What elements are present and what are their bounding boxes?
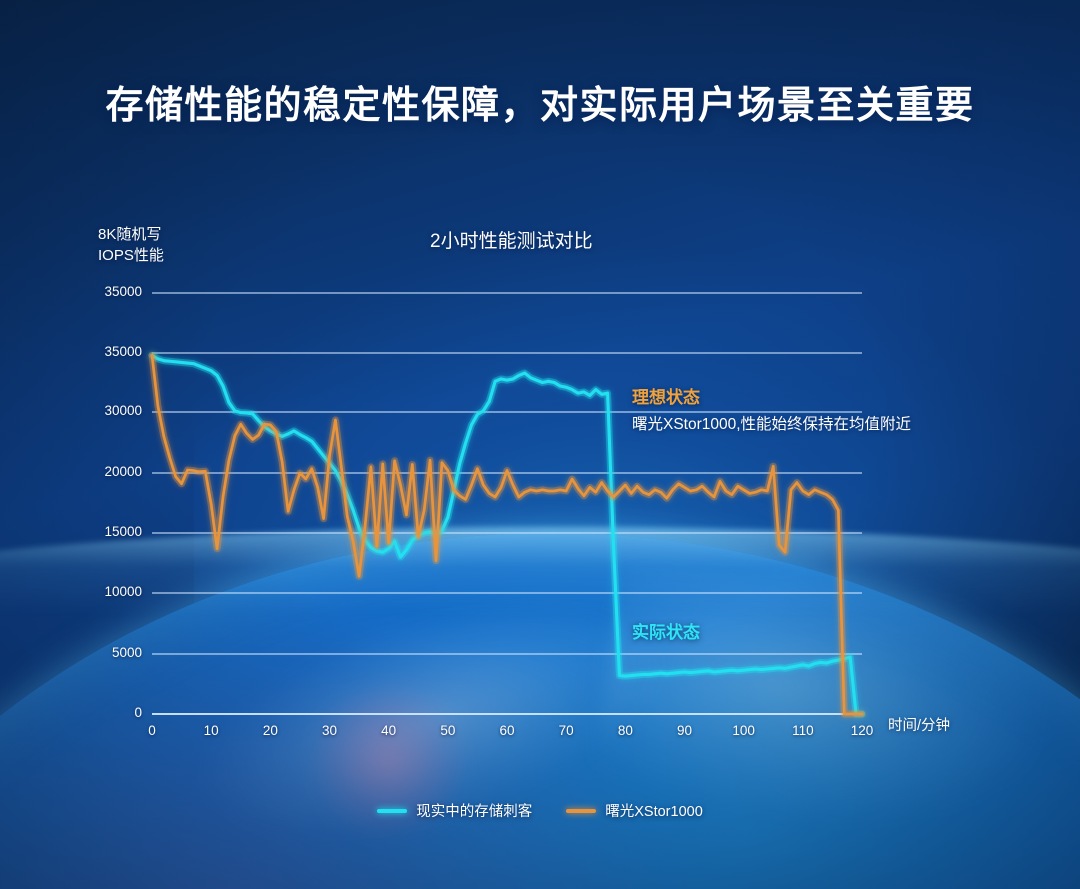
x-axis-label: 时间/分钟 [888,714,950,735]
annotation-real-title: 实际状态 [632,618,700,643]
y-tick-label: 5000 [80,645,142,660]
x-tick-label: 120 [842,723,882,738]
y-tick-label: 0 [80,705,142,720]
legend-item[interactable]: 现实中的存储刺客 [377,800,532,821]
x-tick-label: 40 [369,723,409,738]
legend-item[interactable]: 曙光XStor1000 [566,800,703,821]
chart-canvas [0,0,1080,889]
annotation-ideal-description: 曙光XStor1000,性能始终保持在均值附近 [632,412,911,434]
x-tick-label: 110 [783,723,823,738]
x-tick-label: 70 [546,723,586,738]
legend-label: 现实中的存储刺客 [416,800,532,821]
y-tick-label: 15000 [80,524,142,539]
y-tick-label: 30000 [80,403,142,418]
legend-label: 曙光XStor1000 [605,800,703,821]
series-glow-2 [152,355,862,714]
series-line-1 [152,355,862,714]
legend-color-swatch [566,809,596,813]
performance-chart: 8K随机写 IOPS性能 2小时性能测试对比 时间/分钟 35000350003… [0,0,1080,889]
x-tick-label: 60 [487,723,527,738]
x-tick-label: 90 [665,723,705,738]
y-tick-label: 35000 [80,344,142,359]
x-tick-label: 30 [310,723,350,738]
y-tick-label: 35000 [80,284,142,299]
x-tick-label: 0 [132,723,172,738]
y-tick-label: 10000 [80,584,142,599]
annotation-ideal-title: 理想状态 [632,383,700,408]
x-tick-label: 100 [724,723,764,738]
chart-legend: 现实中的存储刺客曙光XStor1000 [0,800,1080,821]
y-tick-label: 20000 [80,464,142,479]
y-axis-label: 8K随机写 IOPS性能 [98,224,164,266]
x-tick-label: 20 [250,723,290,738]
legend-color-swatch [377,809,407,813]
x-tick-label: 10 [191,723,231,738]
chart-title: 2小时性能测试对比 [430,226,593,253]
x-tick-label: 50 [428,723,468,738]
series-line-2 [152,355,862,714]
x-tick-label: 80 [605,723,645,738]
series-glow-1 [152,355,862,714]
